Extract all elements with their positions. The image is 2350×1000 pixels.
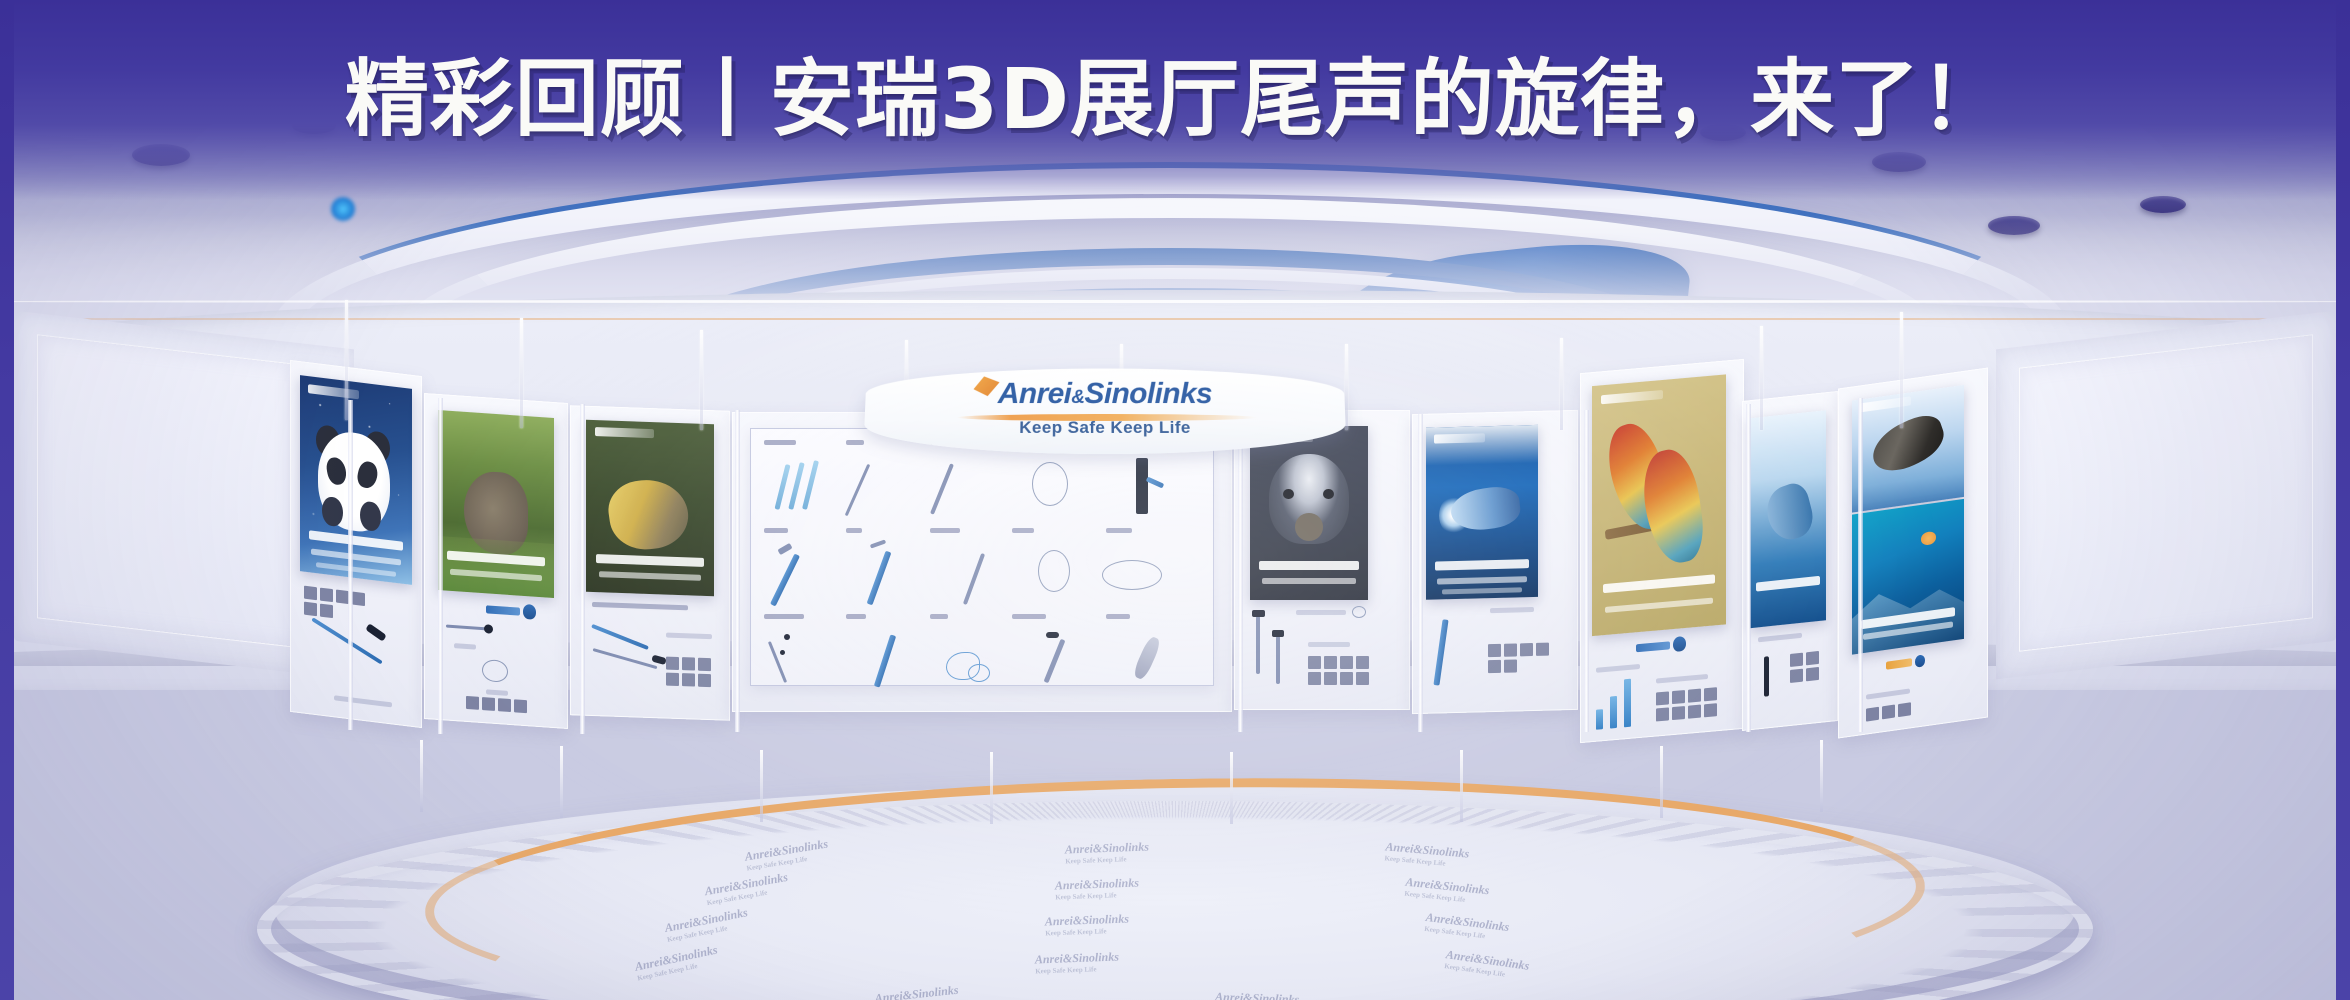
poster-title-bar xyxy=(1259,561,1358,570)
brand-wordmark xyxy=(1886,658,1912,670)
panel-divider-post xyxy=(580,404,585,734)
cn-char xyxy=(1340,656,1353,669)
cn-char xyxy=(1704,687,1717,701)
chart-bar xyxy=(1610,696,1617,729)
panel-spec-text xyxy=(1308,642,1350,647)
cn-char xyxy=(682,657,695,670)
panel-divider-post xyxy=(1238,414,1243,732)
cn-char xyxy=(1672,690,1685,704)
product-needle xyxy=(867,551,892,606)
cn-char xyxy=(1688,689,1701,703)
brand-name-part2: Sinolinks xyxy=(1084,377,1212,410)
panel-divider-post xyxy=(735,410,740,732)
right-wall-inset xyxy=(2020,335,2312,650)
product-forceps xyxy=(1256,616,1260,674)
display-panel-dolphin[interactable] xyxy=(1742,391,1838,731)
poster-brand-mark xyxy=(1860,397,1912,413)
badger-snout-icon xyxy=(1295,513,1323,541)
panel-caption-text xyxy=(1758,633,1802,643)
display-panel-panda[interactable] xyxy=(290,360,422,728)
poster-panda[interactable] xyxy=(300,375,412,585)
cn-char xyxy=(1656,707,1669,721)
snare-loop-icon xyxy=(482,659,508,683)
display-panel-badger[interactable] xyxy=(1234,410,1410,710)
brand-name: Anrei&Sinolinks xyxy=(865,377,1345,411)
hanging-rod xyxy=(1760,326,1763,430)
product-label xyxy=(764,614,804,619)
wall-trim-orange xyxy=(0,318,2350,320)
cn-char xyxy=(1488,660,1501,673)
poster-frog[interactable] xyxy=(586,420,714,596)
stage-ring-text: Anrei&SinolinksKeep Safe Keep Life xyxy=(1055,876,1140,902)
panel-brand-chip xyxy=(486,601,536,619)
stage-railing-post xyxy=(990,752,993,824)
product-dilator xyxy=(930,463,954,515)
product-catheter xyxy=(775,464,791,510)
product-forceps-second xyxy=(1276,636,1280,684)
panel-brand-chip xyxy=(1636,636,1686,655)
product-label xyxy=(846,614,866,619)
cn-char xyxy=(1806,651,1819,665)
badger-eye-right-icon xyxy=(1323,489,1334,499)
brand-banner: Anrei&Sinolinks Keep Safe Keep Life xyxy=(863,369,1347,455)
product-instrument xyxy=(591,624,649,650)
cn-char xyxy=(1488,644,1501,657)
display-panel-birds[interactable] xyxy=(1580,359,1744,743)
chart-axis-label xyxy=(1596,664,1640,673)
product-label xyxy=(930,614,948,619)
product-label xyxy=(1012,614,1046,619)
cn-char xyxy=(1308,656,1321,669)
brand-symbol-icon xyxy=(1673,636,1686,652)
poster-title-bar xyxy=(1435,559,1529,570)
cn-char xyxy=(666,657,679,670)
product-instrument-tip xyxy=(365,623,386,642)
snare-loop-icon xyxy=(1032,462,1068,506)
stage-railing-post xyxy=(420,740,423,812)
product-catheter xyxy=(788,462,804,510)
panel-spec-text xyxy=(1656,674,1708,684)
stage-railing-post xyxy=(760,750,763,822)
poster-title-bar xyxy=(596,554,704,567)
panel-divider-post xyxy=(348,400,353,730)
poster-brand-mark xyxy=(1434,433,1486,443)
product-blue-shaft xyxy=(874,634,896,687)
cn-char xyxy=(352,592,365,607)
stage-ring-text: Anrei&SinolinksKeep Safe Keep Life xyxy=(1035,950,1120,976)
panel-chinese-text xyxy=(1790,650,1824,683)
cn-char xyxy=(1356,656,1369,669)
stage-railing-post xyxy=(1820,740,1823,812)
product-label xyxy=(930,528,960,533)
product-mesh-device xyxy=(1132,635,1163,681)
panel-brand-chip xyxy=(1886,654,1925,671)
hanging-rod xyxy=(1345,344,1348,430)
product-forceps-jaw xyxy=(1272,630,1284,637)
poster-eagle[interactable] xyxy=(1852,385,1964,513)
product-label xyxy=(764,440,796,445)
cn-char xyxy=(320,604,333,619)
basket-loop-icon xyxy=(1038,550,1070,592)
stage-ring-text: Anrei&SinolinksKeep Safe Keep Life xyxy=(1065,840,1150,866)
panel-divider-post xyxy=(438,398,443,734)
cn-char xyxy=(304,586,317,601)
product-connector-arm xyxy=(1146,477,1164,489)
cn-char xyxy=(466,696,479,710)
cn-char xyxy=(1882,705,1895,720)
product-label xyxy=(846,440,864,445)
dolphin-figure-icon xyxy=(1762,480,1816,546)
chart-bar xyxy=(1624,679,1631,727)
brand-wordmark xyxy=(1636,641,1670,652)
panel-chinese-text xyxy=(1488,643,1550,674)
stage-railing-post xyxy=(560,746,563,818)
cn-char xyxy=(1324,656,1337,669)
growth-bar-chart xyxy=(1596,675,1631,730)
cn-char xyxy=(1656,691,1669,705)
left-frame-edge xyxy=(0,0,14,1000)
page-title: 精彩回顾丨安瑞3D展厅尾声的旋律，来了！ xyxy=(0,32,2350,153)
product-grasper-tip xyxy=(777,543,792,555)
cn-char xyxy=(482,697,495,711)
panel-chinese-text xyxy=(1866,702,1914,722)
poster-caption-bar xyxy=(1442,587,1523,594)
product-instrument-tip xyxy=(651,655,666,666)
oval-snare-icon xyxy=(1102,560,1162,590)
cn-char xyxy=(498,698,511,712)
frog-figure-icon xyxy=(605,476,693,553)
poster-subtitle-bar xyxy=(1262,578,1356,584)
brand-ampersand: & xyxy=(1071,387,1084,408)
cn-char xyxy=(1504,643,1517,656)
poster-title-bar xyxy=(1756,576,1820,592)
stage-ring-text: Anrei&SinolinksKeep Safe Keep Life xyxy=(1215,990,1300,1000)
stage-railing-post xyxy=(1460,750,1463,822)
cn-char xyxy=(1672,706,1685,720)
grass-foreground xyxy=(438,536,554,598)
poster-subtitle-bar xyxy=(1605,597,1712,612)
poster-dolphin[interactable] xyxy=(1750,410,1826,628)
product-marker-band xyxy=(780,650,785,655)
poster-ocean-iceberg[interactable] xyxy=(1852,499,1964,655)
poster-subtitle-bar xyxy=(599,571,701,581)
poster-whale-balloon[interactable] xyxy=(1426,425,1538,600)
panel-chinese-text xyxy=(466,696,546,715)
bird-figure-icon xyxy=(1638,444,1707,569)
panel-divider-post xyxy=(1858,398,1863,732)
cn-char xyxy=(514,699,527,713)
product-forceps-jaw xyxy=(1252,610,1265,617)
hanging-rod xyxy=(700,330,703,430)
brand-symbol-icon xyxy=(1915,654,1925,667)
product-catheter xyxy=(802,460,819,510)
display-panel-products[interactable] xyxy=(732,412,1232,712)
cn-char xyxy=(1340,672,1353,685)
circular-stage: Anrei&SinolinksKeep Safe Keep Life Anrei… xyxy=(275,785,2075,1000)
cn-char xyxy=(320,588,333,603)
panel-divider-post xyxy=(1584,410,1589,732)
product-instrument xyxy=(446,625,488,631)
cn-char xyxy=(698,674,711,687)
panel-chinese-text xyxy=(666,657,726,688)
product-label xyxy=(764,528,788,533)
right-frame-edge xyxy=(2336,0,2350,1000)
exhibition-scene: Anrei&Sinolinks Keep Safe Keep Life Anre… xyxy=(0,0,2350,1000)
wall-trim-line xyxy=(0,300,2350,303)
product-instrument-tip xyxy=(484,624,493,634)
poster-kangaroo[interactable] xyxy=(438,410,554,598)
hanging-rod xyxy=(1560,338,1563,430)
panel-divider-post xyxy=(1746,404,1751,732)
cn-char xyxy=(1790,653,1803,667)
panel-spec-text xyxy=(454,643,476,650)
status-ring-icon xyxy=(1352,606,1366,618)
product-handle-grip xyxy=(1046,632,1059,638)
display-panel-kangaroo[interactable] xyxy=(424,393,568,729)
cn-char xyxy=(1308,672,1321,685)
left-wall-inset xyxy=(38,335,330,650)
cn-char xyxy=(1688,705,1701,719)
badger-eye-left-icon xyxy=(1283,489,1294,499)
product-balloon-catheter xyxy=(1433,619,1448,685)
panel-spec-text xyxy=(666,633,712,640)
product-marker-band xyxy=(784,634,790,640)
poster-subtitle-bar xyxy=(1437,576,1527,584)
product-handle-tool xyxy=(1044,639,1066,684)
product-label xyxy=(1106,528,1132,533)
stage-railing-post xyxy=(1230,752,1233,824)
panel-caption-text xyxy=(1490,607,1534,613)
product-needle-hub xyxy=(870,539,886,548)
cn-char xyxy=(1704,703,1717,717)
product-connector xyxy=(1136,458,1148,514)
cn-char xyxy=(304,602,317,617)
cn-char xyxy=(1324,672,1337,685)
stage-ring-text: Anrei&SinolinksKeep Safe Keep Life xyxy=(1045,912,1130,938)
cn-char xyxy=(682,673,695,686)
product-stylet xyxy=(963,553,985,605)
brand-tagline: Keep Safe Keep Life xyxy=(864,418,1346,438)
panel-chinese-text xyxy=(1308,656,1374,685)
display-panel-whale[interactable] xyxy=(1412,410,1578,714)
cn-char xyxy=(1790,669,1803,683)
poster-bee-eater-birds[interactable] xyxy=(1592,374,1726,636)
cn-char xyxy=(1806,667,1819,681)
panel-divider-post xyxy=(1418,414,1423,732)
medical-device-grid[interactable] xyxy=(750,428,1214,686)
sun-icon xyxy=(1921,531,1936,546)
water-foam xyxy=(1426,425,1538,466)
product-instrument xyxy=(593,648,658,669)
stage-railing-post xyxy=(1660,746,1663,818)
panel-caption-text xyxy=(1296,610,1346,615)
product-guidewire xyxy=(845,464,871,516)
product-label xyxy=(846,528,862,533)
poster-title-bar xyxy=(1603,574,1716,593)
cn-char xyxy=(1866,707,1879,722)
cn-char xyxy=(698,658,711,671)
hanging-rod xyxy=(1900,312,1903,428)
eagle-figure-icon xyxy=(1867,408,1949,480)
product-label xyxy=(1106,614,1130,619)
poster-brand-mark xyxy=(595,427,654,438)
product-flexible-catheter xyxy=(768,641,787,683)
cn-char xyxy=(1536,643,1549,656)
cn-char xyxy=(1504,659,1517,672)
cn-char xyxy=(1520,643,1533,656)
panel-spec-text xyxy=(1866,688,1910,699)
display-panel-frog[interactable] xyxy=(570,405,730,721)
cn-char xyxy=(1898,702,1911,717)
brand-name-part1: Anrei xyxy=(998,377,1072,410)
poster-honey-badger[interactable] xyxy=(1250,426,1368,600)
panel-footer-text xyxy=(334,695,392,707)
product-instrument xyxy=(1764,656,1769,697)
cn-char xyxy=(1356,672,1369,685)
panel-chinese-text xyxy=(1656,687,1722,722)
panel-caption-text xyxy=(592,602,688,610)
curved-wire-icon xyxy=(968,664,990,682)
ceiling-spot-light xyxy=(2140,196,2186,213)
poster-brand-mark xyxy=(1601,390,1663,404)
product-grasper xyxy=(770,554,800,607)
hanging-rod xyxy=(520,318,523,428)
ceiling-spot-light xyxy=(1872,152,1926,172)
brand-wordmark xyxy=(486,605,520,615)
brand-symbol-icon xyxy=(523,604,536,620)
panel-spec-text xyxy=(486,689,508,696)
cn-char xyxy=(666,673,679,686)
product-label xyxy=(1012,528,1034,533)
chart-bar xyxy=(1596,709,1603,729)
